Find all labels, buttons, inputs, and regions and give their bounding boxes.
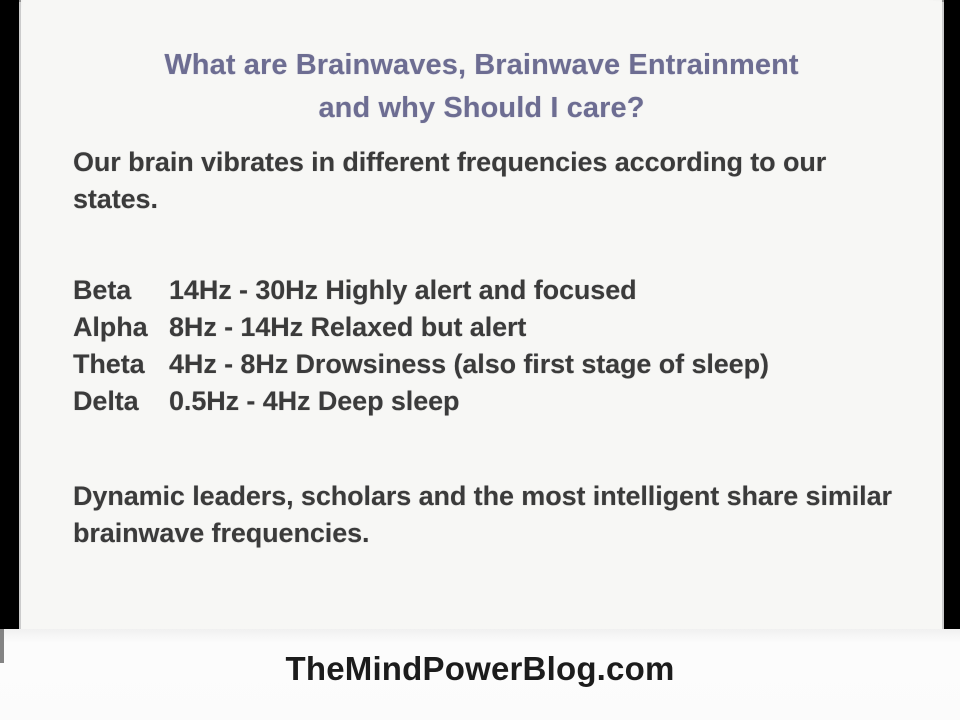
frame-inner-edge-right <box>942 0 944 629</box>
site-url: TheMindPowerBlog.com <box>0 650 960 688</box>
spacer-before-list <box>73 218 912 272</box>
wave-name: Alpha <box>73 309 169 346</box>
wave-name: Beta <box>73 272 169 309</box>
list-item: Delta0.5Hz - 4Hz Deep sleep <box>73 383 912 420</box>
slide-body: Our brain vibrates in different frequenc… <box>73 144 912 552</box>
wave-description: Relaxed but alert <box>310 312 526 342</box>
list-item: Theta4Hz - 8Hz Drowsiness (also first st… <box>73 346 912 383</box>
wave-range: 14Hz - 30Hz <box>169 275 318 305</box>
wave-range: 8Hz - 14Hz <box>169 312 303 342</box>
title-line-2: and why Should I care? <box>318 92 644 124</box>
spacer-before-closing <box>73 420 912 478</box>
brainwave-list: Beta14Hz - 30Hz Highly alert and focused… <box>73 272 912 420</box>
wave-description: Drowsiness (also first stage of sleep) <box>296 349 769 379</box>
wave-range: 0.5Hz - 4Hz <box>169 386 310 416</box>
video-frame: What are Brainwaves, Brainwave Entrainme… <box>0 0 960 720</box>
intro-paragraph: Our brain vibrates in different frequenc… <box>73 144 912 218</box>
closing-paragraph: Dynamic leaders, scholars and the most i… <box>73 478 912 552</box>
wave-name: Theta <box>73 346 169 383</box>
footer-band: TheMindPowerBlog.com <box>0 629 960 720</box>
slide-surface: What are Brainwaves, Brainwave Entrainme… <box>21 0 942 629</box>
list-item: Alpha8Hz - 14Hz Relaxed but alert <box>73 309 912 346</box>
wave-description: Deep sleep <box>318 386 460 416</box>
pillarbox-left <box>0 0 19 629</box>
title-line-1: What are Brainwaves, Brainwave Entrainme… <box>164 49 798 81</box>
list-item: Beta14Hz - 30Hz Highly alert and focused <box>73 272 912 309</box>
wave-range: 4Hz - 8Hz <box>169 349 288 379</box>
wave-description: Highly alert and focused <box>325 275 636 305</box>
page-title: What are Brainwaves, Brainwave Entrainme… <box>21 44 942 130</box>
pillarbox-right <box>944 0 960 629</box>
wave-name: Delta <box>73 383 169 420</box>
